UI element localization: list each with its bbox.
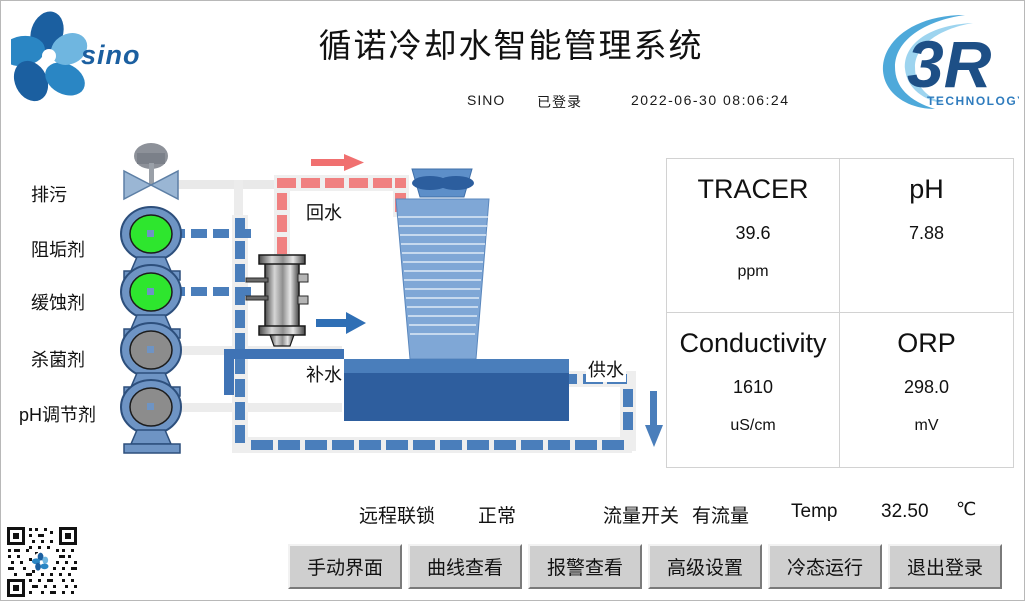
header-datetime: 2022-06-30 08:06:24	[631, 92, 790, 108]
measurement-unit: mV	[915, 417, 939, 435]
measurement-name: ORP	[897, 329, 956, 357]
measurement-value: 7.88	[909, 223, 944, 244]
water-analyzer-vessel[interactable]	[246, 255, 308, 346]
status-temperature-value: 32.50	[881, 501, 929, 523]
measurement-panel: TRACER 39.6 ppm pH 7.88 Conductivity 161…	[666, 158, 1014, 468]
header-login-status: 已登录	[537, 92, 582, 112]
curve-view-button[interactable]: 曲线查看	[408, 544, 522, 589]
measurement-unit: uS/cm	[730, 417, 775, 435]
measurement-name: TRACER	[697, 175, 808, 203]
status-remote-interlock-value: 正常	[478, 501, 516, 528]
label-corrosion-inhibitor: 缓蚀剂	[31, 289, 85, 315]
header-username: SINO	[467, 92, 505, 108]
svg-text:sino: sino	[81, 40, 141, 70]
application-window: sino 3R TECHNOLOGY 循诺冷却水智能管理系统 SINO 已登录 …	[0, 0, 1025, 601]
cold-start-run-button[interactable]: 冷态运行	[768, 544, 882, 589]
measurement-value: 39.6	[735, 223, 770, 244]
measurement-cell-ph[interactable]: pH 7.88	[840, 159, 1013, 313]
logout-button[interactable]: 退出登录	[888, 544, 1002, 589]
label-return-water: 回水	[304, 199, 344, 225]
blowdown-valve[interactable]	[124, 143, 178, 199]
measurement-value: 1610	[733, 377, 773, 398]
page-title: 循诺冷却水智能管理系统	[231, 19, 791, 67]
manual-interface-button[interactable]: 手动界面	[288, 544, 402, 589]
measurement-value: 298.0	[904, 377, 949, 398]
measurement-cell-tracer[interactable]: TRACER 39.6 ppm	[667, 159, 840, 313]
label-ph-adjuster: pH调节剂	[19, 401, 96, 427]
status-flow-switch-label: 流量开关	[603, 501, 679, 528]
qr-code[interactable]	[5, 525, 79, 599]
fan-blade-right	[438, 176, 474, 190]
bottom-button-bar: 手动界面 曲线查看 报警查看 高级设置 冷态运行 退出登录	[288, 544, 1002, 589]
makeup-flow-arrow	[316, 312, 366, 334]
cooling-tower	[344, 169, 569, 421]
status-temperature-label: Temp	[791, 501, 837, 523]
svg-text:3R: 3R	[907, 27, 992, 101]
measurement-unit: ppm	[737, 263, 768, 281]
supply-flow-arrow	[645, 391, 663, 447]
label-blowdown: 排污	[31, 181, 67, 207]
measurement-name: Conductivity	[679, 329, 826, 357]
measurement-cell-orp[interactable]: ORP 298.0 mV	[840, 313, 1013, 467]
3r-technology-logo: 3R TECHNOLOGY	[869, 5, 1019, 117]
process-flow-diagram	[6, 141, 666, 481]
advanced-settings-button[interactable]: 高级设置	[648, 544, 762, 589]
label-biocide: 杀菌剂	[31, 346, 85, 372]
status-temperature-unit: ℃	[956, 499, 976, 520]
return-flow-arrow	[311, 154, 364, 171]
status-remote-interlock-label: 远程联锁	[359, 501, 435, 528]
alarm-view-button[interactable]: 报警查看	[528, 544, 642, 589]
measurement-name: pH	[909, 175, 944, 203]
status-flow-switch-value: 有流量	[692, 501, 749, 528]
measurement-cell-conductivity[interactable]: Conductivity 1610 uS/cm	[667, 313, 840, 467]
sino-logo: sino	[11, 9, 151, 109]
label-antiscalant: 阻垢剂	[31, 236, 85, 262]
label-makeup-water: 补水	[304, 361, 344, 387]
dosing-pump-ph-adjuster[interactable]	[121, 380, 181, 453]
label-supply-water: 供水	[586, 356, 626, 382]
svg-text:TECHNOLOGY: TECHNOLOGY	[927, 94, 1019, 108]
